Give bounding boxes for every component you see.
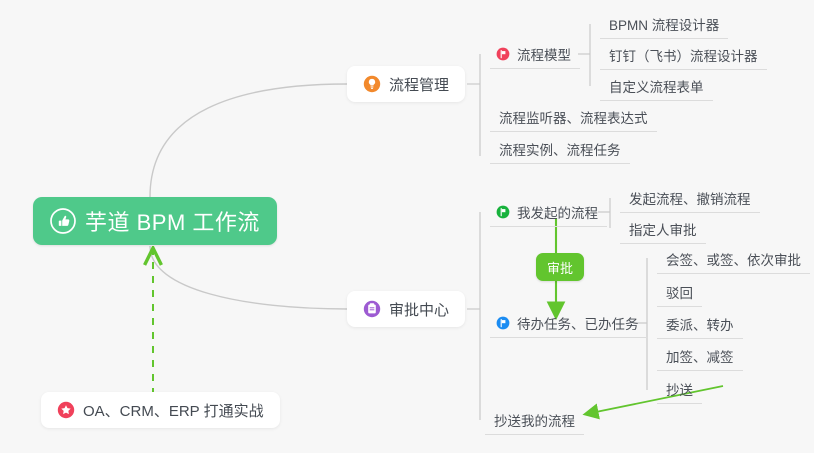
arrow-cc-to-ccmine: [586, 386, 723, 414]
subnode-listener-expression[interactable]: 流程监听器、流程表达式: [490, 102, 657, 132]
subnode-label: 流程实例、流程任务: [499, 139, 621, 159]
subnode-bpmn-designer[interactable]: BPMN 流程设计器: [600, 9, 728, 39]
subnode-label: 待办任务、已办任务: [517, 313, 639, 333]
mindmap-canvas: 芋道 BPM 工作流 流程管理 流程模型 BPMN 流程设计器 钉钉（飞书）流程: [0, 0, 814, 453]
clipboard-circle-icon: [363, 300, 381, 318]
lightbulb-circle-icon: [363, 75, 381, 93]
approve-badge-label: 审批: [547, 258, 573, 277]
subnode-cc-to-me-process[interactable]: 抄送我的流程: [485, 405, 584, 435]
subnode-label: BPMN 流程设计器: [609, 14, 719, 34]
branch-approval-center[interactable]: 审批中心: [347, 291, 465, 327]
subnode-delegate-transfer[interactable]: 委派、转办: [657, 309, 743, 339]
bottom-note-node[interactable]: OA、CRM、ERP 打通实战: [41, 392, 280, 428]
root-node-label: 芋道 BPM 工作流: [85, 205, 260, 237]
subnode-assignee-approval[interactable]: 指定人审批: [620, 214, 706, 244]
subnode-label: 抄送我的流程: [494, 410, 575, 430]
link-root-to-process-management: [150, 84, 347, 197]
branch-process-management[interactable]: 流程管理: [347, 66, 465, 102]
branch-label: 审批中心: [389, 299, 449, 320]
flag-circle-icon: [496, 316, 510, 330]
subnode-todo-done-task[interactable]: 待办任务、已办任务: [490, 308, 648, 338]
subnode-process-model[interactable]: 流程模型: [490, 39, 580, 69]
link-root-to-approval-center: [150, 246, 347, 309]
subnode-label: 流程模型: [517, 44, 571, 64]
subnode-carbon-copy[interactable]: 抄送: [657, 374, 702, 404]
thumbs-up-circle-icon: [50, 208, 76, 234]
subnode-instance-task[interactable]: 流程实例、流程任务: [490, 134, 630, 164]
bottom-note-label: OA、CRM、ERP 打通实战: [83, 400, 264, 421]
subnode-label: 会签、或签、依次审批: [666, 249, 801, 269]
subnode-label: 自定义流程表单: [609, 76, 704, 96]
approve-badge: 审批: [536, 253, 584, 281]
root-node[interactable]: 芋道 BPM 工作流: [33, 197, 277, 245]
subnode-label: 委派、转办: [666, 314, 734, 334]
subnode-label: 发起流程、撤销流程: [629, 188, 751, 208]
subnode-my-started-process[interactable]: 我发起的流程: [490, 197, 607, 227]
flag-circle-icon: [496, 47, 510, 61]
subnode-start-cancel-process[interactable]: 发起流程、撤销流程: [620, 183, 760, 213]
subnode-label: 钉钉（飞书）流程设计器: [609, 45, 758, 65]
subnode-custom-process-form[interactable]: 自定义流程表单: [600, 71, 713, 101]
subnode-dingtalk-feishu-designer[interactable]: 钉钉（飞书）流程设计器: [600, 40, 767, 70]
subnode-label: 驳回: [666, 282, 693, 302]
branch-label: 流程管理: [389, 74, 449, 95]
subnode-label: 流程监听器、流程表达式: [499, 107, 648, 127]
subnode-label: 我发起的流程: [517, 202, 598, 222]
subnode-reject[interactable]: 驳回: [657, 277, 702, 307]
subnode-label: 加签、减签: [666, 346, 734, 366]
flag-circle-icon: [496, 205, 510, 219]
star-circle-icon: [57, 401, 75, 419]
subnode-multi-sign[interactable]: 会签、或签、依次审批: [657, 244, 810, 274]
subnode-label: 指定人审批: [629, 219, 697, 239]
subnode-add-remove-sign[interactable]: 加签、减签: [657, 341, 743, 371]
subnode-label: 抄送: [666, 379, 693, 399]
